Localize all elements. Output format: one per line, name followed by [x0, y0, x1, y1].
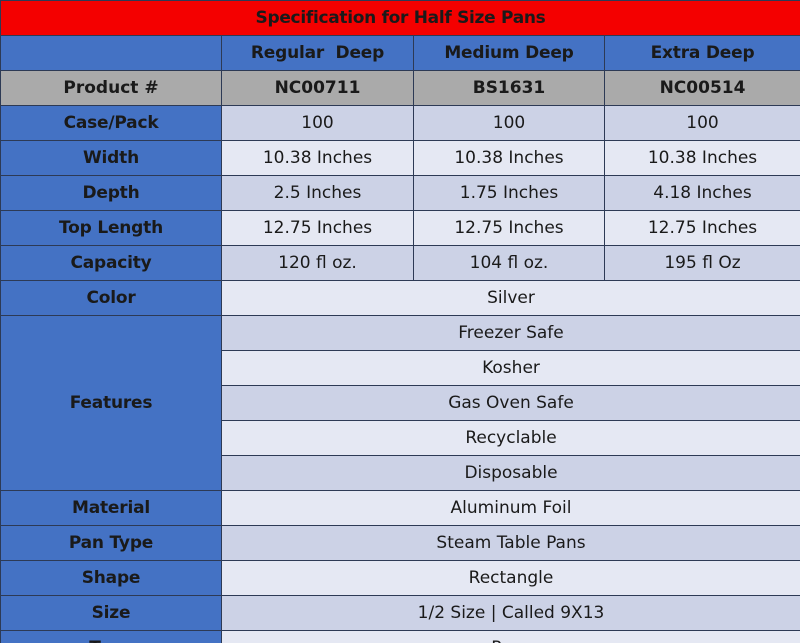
column-header-row: Regular Deep Medium Deep Extra Deep: [1, 36, 800, 71]
cell-pan-type-value: Steam Table Pans: [222, 526, 800, 561]
cell-feature-freezer-safe: Freezer Safe: [222, 316, 800, 351]
column-header-regular-deep: Regular Deep: [222, 36, 414, 71]
row-label-features: Features: [1, 316, 222, 491]
cell-shape-value: Rectangle: [222, 561, 800, 596]
table-row: Width 10.38 Inches 10.38 Inches 10.38 In…: [1, 141, 800, 176]
row-label-product-number: Product #: [1, 71, 222, 106]
cell-depth-regular: 2.5 Inches: [222, 176, 414, 211]
cell-size-value: 1/2 Size | Called 9X13: [222, 596, 800, 631]
table-row: Shape Rectangle: [1, 561, 800, 596]
table-row: Top Length 12.75 Inches 12.75 Inches 12.…: [1, 211, 800, 246]
cell-case-pack-medium: 100: [414, 106, 605, 141]
cell-feature-gas-oven-safe: Gas Oven Safe: [222, 386, 800, 421]
cell-capacity-medium: 104 fl oz.: [414, 246, 605, 281]
cell-color-value: Silver: [222, 281, 800, 316]
cell-depth-medium: 1.75 Inches: [414, 176, 605, 211]
row-label-material: Material: [1, 491, 222, 526]
cell-case-pack-regular: 100: [222, 106, 414, 141]
title-row: Specification for Half Size Pans: [1, 1, 800, 36]
cell-product-number-extra: NC00514: [605, 71, 800, 106]
cell-width-medium: 10.38 Inches: [414, 141, 605, 176]
row-label-pan-type: Pan Type: [1, 526, 222, 561]
row-label-color: Color: [1, 281, 222, 316]
cell-top-length-regular: 12.75 Inches: [222, 211, 414, 246]
table-row: Features Freezer Safe: [1, 316, 800, 351]
cell-top-length-medium: 12.75 Inches: [414, 211, 605, 246]
cell-feature-recyclable: Recyclable: [222, 421, 800, 456]
column-header-blank: [1, 36, 222, 71]
row-label-capacity: Capacity: [1, 246, 222, 281]
cell-width-extra: 10.38 Inches: [605, 141, 800, 176]
row-label-size: Size: [1, 596, 222, 631]
table-row: Color Silver: [1, 281, 800, 316]
table-row: Pan Type Steam Table Pans: [1, 526, 800, 561]
cell-depth-extra: 4.18 Inches: [605, 176, 800, 211]
row-label-top-length: Top Length: [1, 211, 222, 246]
cell-feature-kosher: Kosher: [222, 351, 800, 386]
column-header-medium-deep: Medium Deep: [414, 36, 605, 71]
table-row: Capacity 120 fl oz. 104 fl oz. 195 fl Oz: [1, 246, 800, 281]
cell-feature-disposable: Disposable: [222, 456, 800, 491]
specification-sheet: OnlyOneStopShop RESTAURANT SUPPLIES Spec…: [0, 0, 800, 643]
column-header-extra-deep: Extra Deep: [605, 36, 800, 71]
table-row: Depth 2.5 Inches 1.75 Inches 4.18 Inches: [1, 176, 800, 211]
cell-product-number-medium: BS1631: [414, 71, 605, 106]
page-title: Specification for Half Size Pans: [1, 1, 800, 36]
cell-case-pack-extra: 100: [605, 106, 800, 141]
cell-top-length-extra: 12.75 Inches: [605, 211, 800, 246]
cell-product-number-regular: NC00711: [222, 71, 414, 106]
table-row: Size 1/2 Size | Called 9X13: [1, 596, 800, 631]
table-row: Type Pans: [1, 631, 800, 643]
specification-table: Specification for Half Size Pans Regular…: [0, 0, 800, 643]
cell-material-value: Aluminum Foil: [222, 491, 800, 526]
row-label-depth: Depth: [1, 176, 222, 211]
table-row: Case/Pack 100 100 100: [1, 106, 800, 141]
cell-capacity-extra: 195 fl Oz: [605, 246, 800, 281]
row-label-type: Type: [1, 631, 222, 643]
cell-capacity-regular: 120 fl oz.: [222, 246, 414, 281]
table-row: Material Aluminum Foil: [1, 491, 800, 526]
cell-type-value: Pans: [222, 631, 800, 643]
table-row: Product # NC00711 BS1631 NC00514: [1, 71, 800, 106]
cell-width-regular: 10.38 Inches: [222, 141, 414, 176]
row-label-case-pack: Case/Pack: [1, 106, 222, 141]
row-label-width: Width: [1, 141, 222, 176]
row-label-shape: Shape: [1, 561, 222, 596]
